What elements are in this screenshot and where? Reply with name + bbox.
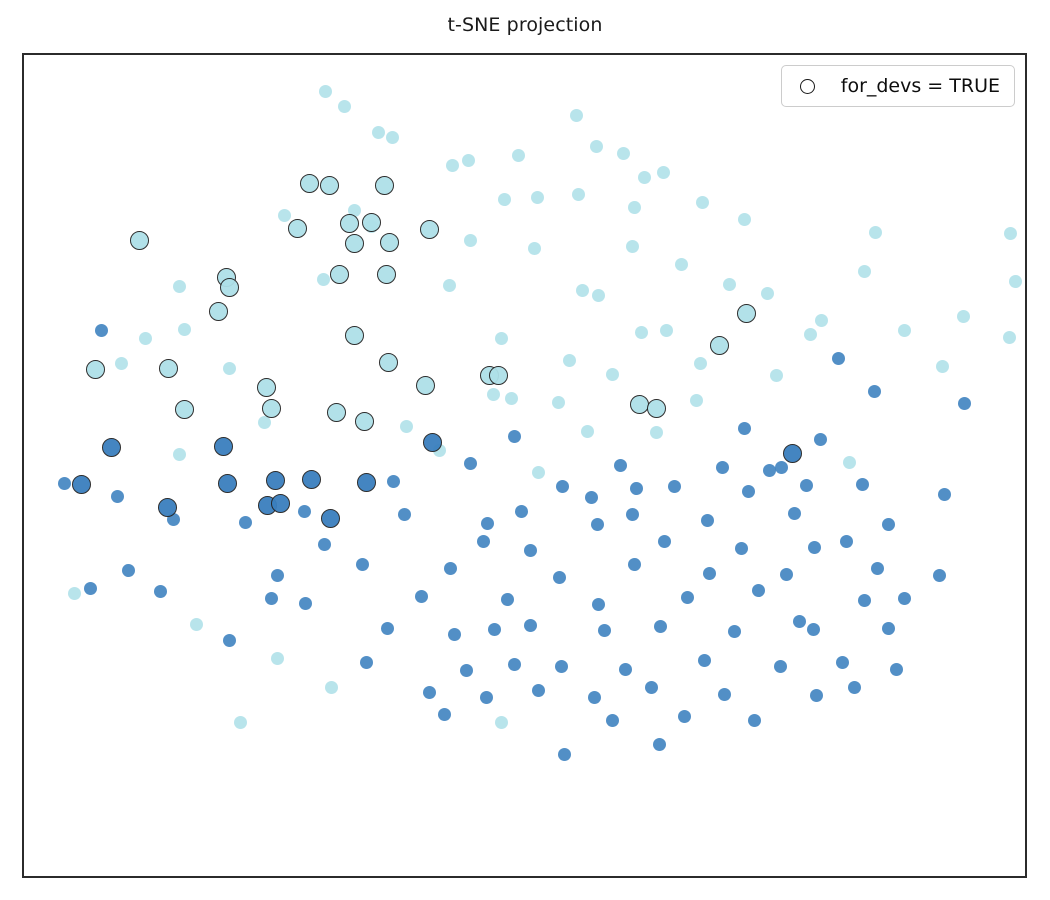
scatter-point xyxy=(387,475,400,488)
scatter-point xyxy=(668,480,681,493)
scatter-point-for-devs-true xyxy=(380,233,399,252)
scatter-point xyxy=(848,681,861,694)
scatter-point xyxy=(325,681,338,694)
scatter-point xyxy=(481,517,494,530)
scatter-point-for-devs-true xyxy=(783,444,802,463)
scatter-point-for-devs-true xyxy=(102,438,121,457)
scatter-point xyxy=(807,623,820,636)
scatter-point-for-devs-true xyxy=(130,231,149,250)
scatter-point-for-devs-true xyxy=(420,220,439,239)
scatter-point xyxy=(423,686,436,699)
scatter-point xyxy=(808,541,821,554)
scatter-point xyxy=(524,619,537,632)
scatter-point xyxy=(635,326,648,339)
scatter-point-for-devs-true xyxy=(158,498,177,517)
scatter-point-for-devs-true xyxy=(375,176,394,195)
scatter-point xyxy=(590,140,603,153)
scatter-point-for-devs-true xyxy=(271,494,290,513)
scatter-point xyxy=(748,714,761,727)
scatter-point xyxy=(531,191,544,204)
scatter-point xyxy=(690,394,703,407)
scatter-point-for-devs-true xyxy=(300,174,319,193)
scatter-point xyxy=(462,154,475,167)
scatter-point xyxy=(628,558,641,571)
scatter-point xyxy=(738,213,751,226)
scatter-point xyxy=(814,433,827,446)
scatter-point xyxy=(570,109,583,122)
scatter-point-for-devs-true xyxy=(379,353,398,372)
scatter-point-for-devs-true xyxy=(72,475,91,494)
scatter-point xyxy=(111,490,124,503)
scatter-point xyxy=(810,689,823,702)
scatter-point xyxy=(498,193,511,206)
plot-area: for_devs = TRUE xyxy=(22,53,1027,878)
scatter-point-for-devs-true xyxy=(209,302,228,321)
scatter-point xyxy=(958,397,971,410)
scatter-point-for-devs-true xyxy=(86,360,105,379)
scatter-point xyxy=(761,287,774,300)
scatter-point xyxy=(488,623,501,636)
scatter-point xyxy=(512,149,525,162)
scatter-point-for-devs-true xyxy=(489,366,508,385)
scatter-point xyxy=(552,396,565,409)
scatter-point xyxy=(122,564,135,577)
scatter-point xyxy=(898,592,911,605)
scatter-point xyxy=(606,714,619,727)
scatter-point xyxy=(1004,227,1017,240)
scatter-point xyxy=(800,479,813,492)
scatter-point xyxy=(592,598,605,611)
scatter-point xyxy=(774,660,787,673)
scatter-point xyxy=(617,147,630,160)
scatter-point xyxy=(572,188,585,201)
scatter-point xyxy=(938,488,951,501)
scatter-point xyxy=(654,620,667,633)
scatter-point xyxy=(508,430,521,443)
scatter-point-for-devs-true xyxy=(345,234,364,253)
scatter-point-for-devs-true xyxy=(330,265,349,284)
scatter-point-for-devs-true xyxy=(175,400,194,419)
page-title: t-SNE projection xyxy=(0,14,1050,36)
scatter-point xyxy=(933,569,946,582)
scatter-point-for-devs-true xyxy=(737,304,756,323)
scatter-point xyxy=(696,196,709,209)
scatter-point-for-devs-true xyxy=(288,219,307,238)
scatter-point xyxy=(173,280,186,293)
scatter-point xyxy=(360,656,373,669)
scatter-point xyxy=(628,201,641,214)
scatter-point xyxy=(1003,331,1016,344)
scatter-point xyxy=(858,594,871,607)
scatter-point xyxy=(626,240,639,253)
scatter-point-for-devs-true xyxy=(377,265,396,284)
scatter-point xyxy=(832,352,845,365)
scatter-point xyxy=(477,535,490,548)
scatter-point xyxy=(585,491,598,504)
scatter-point xyxy=(139,332,152,345)
scatter-point xyxy=(653,738,666,751)
scatter-point xyxy=(626,508,639,521)
scatter-point xyxy=(856,478,869,491)
scatter-point xyxy=(591,518,604,531)
legend[interactable]: for_devs = TRUE xyxy=(781,65,1015,107)
scatter-point xyxy=(694,357,707,370)
scatter-point xyxy=(505,392,518,405)
scatter-point xyxy=(381,622,394,635)
scatter-point xyxy=(464,234,477,247)
scatter-point-for-devs-true xyxy=(423,433,442,452)
scatter-point xyxy=(728,625,741,638)
scatter-point-for-devs-true xyxy=(218,474,237,493)
scatter-point xyxy=(356,558,369,571)
scatter-point xyxy=(524,544,537,557)
scatter-point xyxy=(460,664,473,677)
scatter-point xyxy=(752,584,765,597)
scatter-point xyxy=(780,568,793,581)
scatter-point xyxy=(701,514,714,527)
scatter-point xyxy=(775,461,788,474)
scatter-point xyxy=(298,505,311,518)
scatter-point xyxy=(532,684,545,697)
scatter-point xyxy=(563,354,576,367)
scatter-point xyxy=(936,360,949,373)
scatter-point xyxy=(738,422,751,435)
scatter-point xyxy=(532,466,545,479)
scatter-point xyxy=(675,258,688,271)
scatter-point-for-devs-true xyxy=(257,378,276,397)
scatter-point xyxy=(555,660,568,673)
scatter-point xyxy=(576,284,589,297)
scatter-point xyxy=(957,310,970,323)
scatter-point-for-devs-true xyxy=(416,376,435,395)
scatter-point xyxy=(588,691,601,704)
scatter-point xyxy=(446,159,459,172)
scatter-point xyxy=(660,324,673,337)
scatter-point xyxy=(703,567,716,580)
scatter-point xyxy=(501,593,514,606)
scatter-point xyxy=(614,459,627,472)
scatter-point xyxy=(508,658,521,671)
scatter-point-for-devs-true xyxy=(357,473,376,492)
scatter-point xyxy=(723,278,736,291)
scatter-point-for-devs-true xyxy=(355,412,374,431)
scatter-point-for-devs-true xyxy=(302,470,321,489)
scatter-point xyxy=(770,369,783,382)
legend-circle-icon xyxy=(800,79,815,94)
scatter-point xyxy=(115,357,128,370)
scatter-point xyxy=(718,688,731,701)
scatter-point xyxy=(258,416,271,429)
scatter-point xyxy=(898,324,911,337)
scatter-point xyxy=(882,518,895,531)
scatter-point xyxy=(528,242,541,255)
scatter-point xyxy=(658,535,671,548)
scatter-point xyxy=(630,482,643,495)
scatter-point xyxy=(804,328,817,341)
scatter-point xyxy=(793,615,806,628)
scatter-point xyxy=(619,663,632,676)
scatter-point xyxy=(68,587,81,600)
scatter-point xyxy=(95,324,108,337)
scatter-point xyxy=(173,448,186,461)
scatter-point xyxy=(592,289,605,302)
scatter-point xyxy=(882,622,895,635)
scatter-point xyxy=(444,562,457,575)
scatter-point xyxy=(234,716,247,729)
scatter-point xyxy=(843,456,856,469)
scatter-point xyxy=(317,273,330,286)
scatter-point xyxy=(698,654,711,667)
scatter-point xyxy=(657,166,670,179)
legend-label: for_devs = TRUE xyxy=(841,75,1000,97)
scatter-point xyxy=(836,656,849,669)
scatter-point xyxy=(678,710,691,723)
scatter-point xyxy=(319,85,332,98)
scatter-point xyxy=(271,652,284,665)
scatter-point-for-devs-true xyxy=(327,403,346,422)
scatter-point xyxy=(178,323,191,336)
scatter-point xyxy=(815,314,828,327)
scatter-point xyxy=(645,681,658,694)
scatter-point xyxy=(84,582,97,595)
scatter-point-for-devs-true xyxy=(647,399,666,418)
scatter-point-for-devs-true xyxy=(710,336,729,355)
scatter-point xyxy=(318,538,331,551)
scatter-point xyxy=(742,485,755,498)
scatter-point xyxy=(495,332,508,345)
scatter-point-for-devs-true xyxy=(321,509,340,528)
scatter-point-for-devs-true xyxy=(320,176,339,195)
scatter-point xyxy=(190,618,203,631)
scatter-point xyxy=(1009,275,1022,288)
scatter-point xyxy=(480,691,493,704)
scatter-point xyxy=(58,477,71,490)
scatter-point-for-devs-true xyxy=(159,359,178,378)
scatter-point xyxy=(386,131,399,144)
scatter-point xyxy=(858,265,871,278)
scatter-point-for-devs-true xyxy=(220,278,239,297)
scatter-point xyxy=(868,385,881,398)
scatter-point xyxy=(338,100,351,113)
scatter-point xyxy=(415,590,428,603)
scatter-point xyxy=(788,507,801,520)
scatter-point xyxy=(448,628,461,641)
scatter-point-for-devs-true xyxy=(262,399,281,418)
scatter-point xyxy=(464,457,477,470)
scatter-point xyxy=(871,562,884,575)
scatter-point xyxy=(735,542,748,555)
scatter-point xyxy=(223,634,236,647)
scatter-point-for-devs-true xyxy=(630,395,649,414)
scatter-point xyxy=(558,748,571,761)
scatter-point xyxy=(556,480,569,493)
scatter-point xyxy=(495,716,508,729)
scatter-point xyxy=(840,535,853,548)
scatter-point-for-devs-true xyxy=(266,471,285,490)
scatter-point xyxy=(154,585,167,598)
scatter-point xyxy=(638,171,651,184)
scatter-point xyxy=(278,209,291,222)
scatter-point-for-devs-true xyxy=(340,214,359,233)
scatter-point-for-devs-true xyxy=(214,437,233,456)
scatter-point xyxy=(372,126,385,139)
scatter-point-for-devs-true xyxy=(362,213,381,232)
scatter-point xyxy=(265,592,278,605)
scatter-point xyxy=(581,425,594,438)
scatter-point xyxy=(223,362,236,375)
scatter-point xyxy=(650,426,663,439)
scatter-point xyxy=(606,368,619,381)
scatter-point xyxy=(299,597,312,610)
scatter-point xyxy=(487,388,500,401)
scatter-point xyxy=(400,420,413,433)
scatter-point xyxy=(869,226,882,239)
scatter-point xyxy=(890,663,903,676)
scatter-points-layer xyxy=(24,55,1025,876)
tsne-figure: t-SNE projection for_devs = TRUE xyxy=(0,0,1050,900)
scatter-point xyxy=(553,571,566,584)
scatter-point xyxy=(443,279,456,292)
scatter-point xyxy=(398,508,411,521)
scatter-point xyxy=(598,624,611,637)
scatter-point xyxy=(239,516,252,529)
scatter-point xyxy=(716,461,729,474)
scatter-point xyxy=(681,591,694,604)
scatter-point xyxy=(271,569,284,582)
scatter-point xyxy=(438,708,451,721)
scatter-point-for-devs-true xyxy=(345,326,364,345)
scatter-point xyxy=(515,505,528,518)
